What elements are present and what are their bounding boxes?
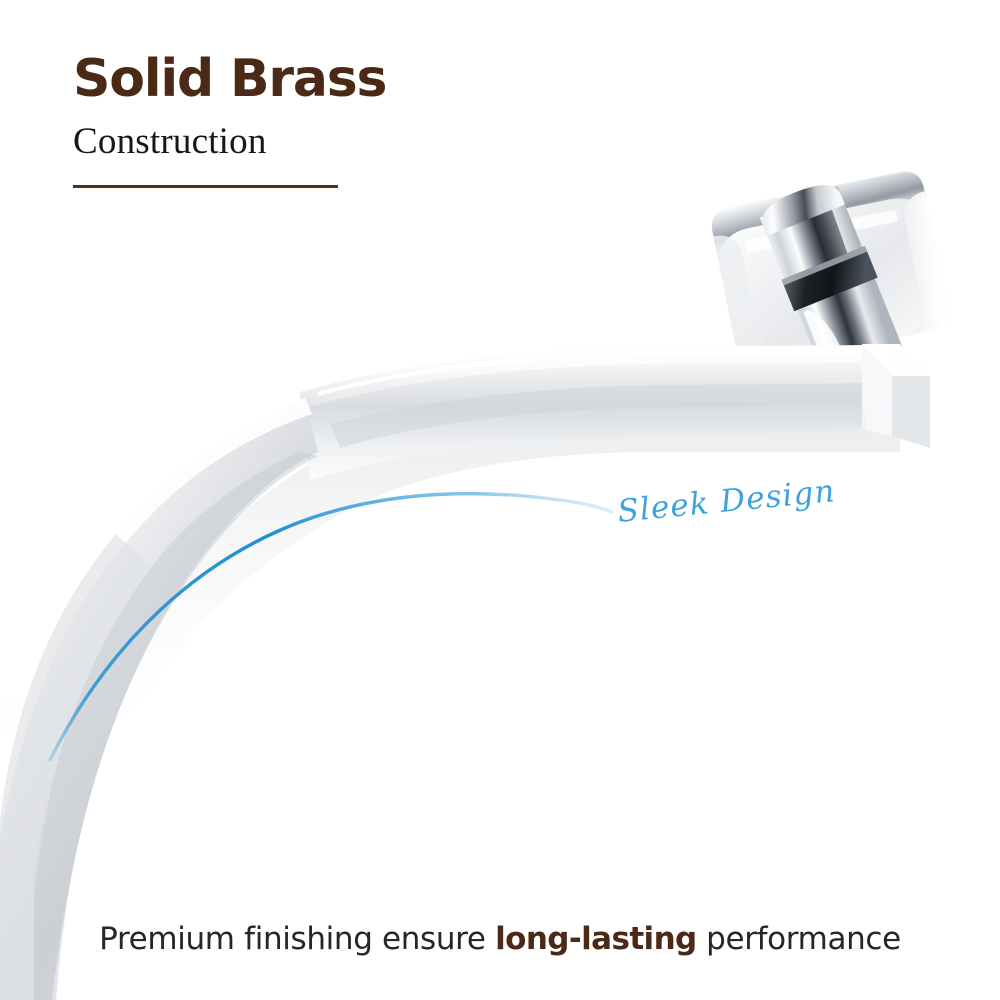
heading-divider [73,185,338,188]
arm-end-cap-top [862,344,930,376]
caption-emphasis: long-lasting [495,921,697,957]
plate-face [708,168,952,370]
page-subtitle: Construction [73,106,673,163]
ring-highlight [782,246,868,285]
plate-top-bevel [708,169,929,260]
cylinder-ring [782,246,878,311]
page-title: Solid Brass [73,52,673,106]
caption-suffix: performance [697,921,901,957]
arm-highlight-line [318,352,893,394]
cylinder-connector [753,176,906,382]
arm-bend-crease [34,452,318,1000]
footer-caption: Premium finishing ensure long-lasting pe… [0,921,1000,957]
escutcheon-plate [708,168,952,370]
arm-horizontal-face [300,345,898,480]
arm-curved-limb [0,400,318,1000]
shower-arm [0,344,930,1000]
arm-drop-shadow [0,392,900,780]
cylinder-body [760,186,904,381]
cylinder-cap [756,177,845,236]
arm-bend-highlight [0,398,312,838]
arm-top-bevel [300,345,898,408]
arm-end-cap-side [892,376,930,448]
heading-block: Solid Brass Construction [73,52,673,188]
cylinder-core-streak [810,210,849,262]
plate-highlight [745,209,899,253]
plate-right-bevel [881,191,953,335]
sleek-design-leader-line [50,494,612,760]
cylinder-reflection [803,304,850,379]
sleek-design-callout: Sleek Design [616,473,837,530]
caption-prefix: Premium finishing ensure [99,921,495,957]
arm-mid-shade [330,383,893,448]
arm-end-cap-front [862,344,892,436]
product-feature-image: Solid Brass Construction Sleek Design Pr… [0,0,1000,1000]
plate-left-shade [713,228,781,370]
arm-end-cap [862,344,930,448]
